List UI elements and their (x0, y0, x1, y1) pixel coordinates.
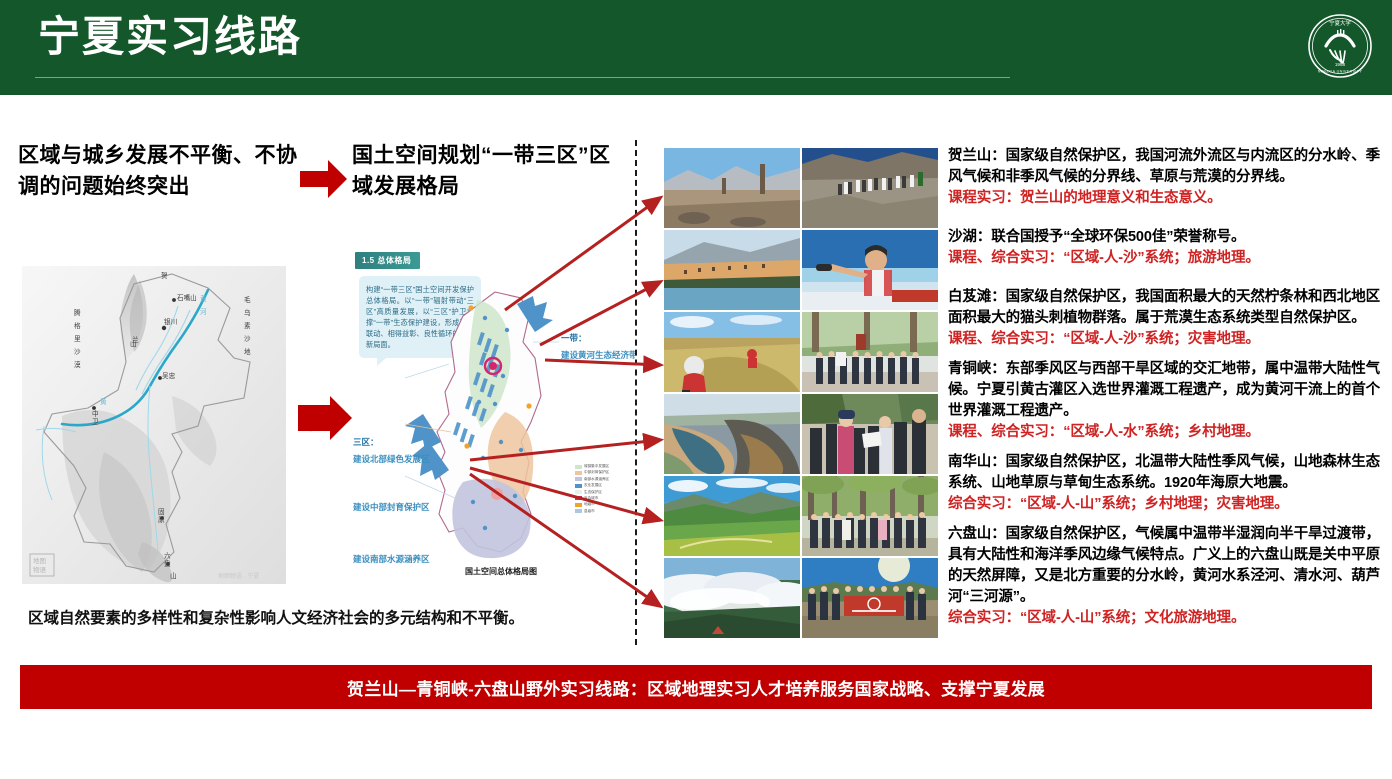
svg-text:地: 地 (244, 347, 251, 356)
site-block-shahu: 沙湖：联合国授予“全球环保500佳”荣誉称号。 课程、综合实习：“区域-人-沙”… (948, 227, 1386, 269)
header-divider (35, 77, 1010, 78)
site-course: 课程实习：贺兰山的地理意义和生态意义。 (948, 188, 1386, 209)
svg-text:吴忠: 吴忠 (162, 372, 176, 380)
liupanshan-banner-group-photo (802, 558, 938, 638)
page-header: 宁夏实习线路 宁夏大学 1958 NINGXIA UNIVERSITY (0, 0, 1392, 95)
bottom-banner: 贺兰山—青铜峡-六盘山野外实习线路：区域地理实习人才培养服务国家战略、支撑宁夏发… (20, 665, 1372, 709)
svg-text:物语: 物语 (33, 565, 47, 574)
site-body: 贺兰山：国家级自然保护区，我国河流外流区与内流区的分水岭、季风气候和非季风气候的… (948, 146, 1386, 188)
liupanshan-clouds-photo (664, 558, 800, 638)
photo-row (664, 476, 938, 556)
svg-text:六: 六 (164, 551, 171, 560)
photo-row (664, 394, 938, 474)
legend-item: 南部水源涵养区 (584, 477, 609, 482)
helanshan-landscape-photo (664, 148, 800, 228)
svg-text:1958: 1958 (1335, 62, 1346, 67)
svg-text:河: 河 (200, 308, 207, 316)
zones-label: 三区： (353, 436, 379, 448)
site-course: 综合实习：“区域-人-山”系统；乡村地理；灾害地理。 (948, 494, 1386, 515)
legend-item: 城镇集中发展区 (584, 464, 609, 469)
svg-text:银川: 银川 (164, 317, 177, 326)
photo-row (664, 230, 938, 310)
site-body: 沙湖：联合国授予“全球环保500佳”荣誉称号。 (948, 227, 1386, 248)
site-course: 课程、综合实习：“区域-人-沙”系统；灾害地理。 (948, 329, 1386, 350)
svg-text:地图物语 · 宁夏: 地图物语 · 宁夏 (218, 572, 259, 580)
svg-text:NINGXIA UNIVERSITY: NINGXIA UNIVERSITY (1318, 70, 1363, 74)
svg-text:贺: 贺 (161, 271, 168, 280)
legend-item: 地级市 (584, 502, 595, 507)
qingtongxia-teaching-photo (802, 394, 938, 474)
svg-text:卫: 卫 (92, 418, 99, 426)
terrain-map-caption: 区域自然要素的多样性和复杂性影响人文经济社会的多元结构和不平衡。 (28, 608, 608, 630)
site-body: 青铜峡：东部季风区与西部干旱区域的交汇地带，属中温带大陆性气候。宁夏引黄古灌区入… (948, 359, 1386, 422)
svg-text:固: 固 (158, 508, 165, 516)
problem-statement-text: 区域与城乡发展不平衡、不协调的问题始终突出 (18, 140, 308, 202)
red-arrow-icon (300, 158, 348, 200)
shahu-boat-photo (802, 230, 938, 310)
site-description-list: 贺兰山：国家级自然保护区，我国河流外流区与内流区的分水岭、季风气候和非季风气候的… (948, 146, 1386, 638)
planning-framework-text: 国土空间规划“一带三区”区域发展格局 (352, 140, 612, 202)
svg-text:素: 素 (244, 321, 251, 330)
ningxia-terrain-map: 贺兰山 石嘴山 银川 吴忠 腾格里沙漠 毛乌素沙地 黄河 黄中卫 固原 六盘山 … (22, 266, 286, 584)
site-body: 南华山：国家级自然保护区，北温带大陆性季风气候，山地森林生态系统、山地草原与草甸… (948, 452, 1386, 494)
site-course: 综合实习：“区域-人-山”系统；文化旅游地理。 (948, 608, 1386, 629)
territorial-plan-map: 1.5 总体格局 构建“一带三区”国土空间开发保护总体格局。以“一带”辐射带动“… (345, 246, 635, 586)
svg-text:地图: 地图 (33, 556, 46, 565)
svg-text:山: 山 (170, 571, 177, 580)
site-block-helanshan: 贺兰山：国家级自然保护区，我国河流外流区与内流区的分水岭、季风气候和非季风气候的… (948, 146, 1386, 209)
site-course: 课程、综合实习：“区域-人-水”系统；乡村地理。 (948, 422, 1386, 443)
plan-map-caption: 国土空间总体格局图 (465, 566, 537, 577)
baijitan-group-photo (802, 312, 938, 392)
svg-text:黄: 黄 (100, 397, 107, 406)
svg-text:盘: 盘 (164, 559, 171, 568)
baijitan-vegetation-photo (664, 312, 800, 392)
legend-item: 县级市 (584, 509, 595, 514)
svg-text:里: 里 (74, 335, 81, 343)
page-title: 宁夏实习线路 (38, 11, 302, 63)
photo-row (664, 312, 938, 392)
site-block-liupanshan: 六盘山：国家级自然保护区，气候属中温带半湿润向半干旱过渡带，具有大陆性和海洋季风… (948, 524, 1386, 629)
qingtongxia-river-photo (664, 394, 800, 474)
svg-text:宁夏大学: 宁夏大学 (1329, 19, 1351, 27)
svg-text:漠: 漠 (74, 360, 81, 369)
svg-text:石嘴山: 石嘴山 (177, 293, 197, 302)
fieldwork-photo-grid (664, 148, 938, 640)
legend-item: 省会城市 (584, 496, 598, 501)
site-block-nanhuashan: 南华山：国家级自然保护区，北温带大陆性季风气候，山地森林生态系统、山地草原与草甸… (948, 452, 1386, 515)
svg-text:乌: 乌 (244, 308, 251, 317)
helanshan-fieldwork-photo (802, 148, 938, 228)
zone-central-label: 建设中部封育保护区 (353, 501, 430, 513)
belt-text: 建设黄河生态经济带 (561, 349, 635, 361)
svg-text:腾: 腾 (74, 308, 81, 317)
svg-text:毛: 毛 (244, 295, 251, 304)
site-body: 六盘山：国家级自然保护区，气候属中温带半湿润向半干旱过渡带，具有大陆性和海洋季风… (948, 524, 1386, 608)
banner-text: 贺兰山—青铜峡-六盘山野外实习线路：区域地理实习人才培养服务国家战略、支撑宁夏发… (347, 675, 1045, 700)
svg-text:黄: 黄 (200, 294, 207, 303)
zone-south-label: 建设南部水源涵养区 (353, 553, 430, 565)
site-course: 课程、综合实习：“区域-人-沙”系统；旅游地理。 (948, 248, 1386, 269)
shahu-dune-lake-photo (664, 230, 800, 310)
legend-item: 中部封育保护区 (584, 470, 609, 475)
site-body: 白芨滩：国家级自然保护区，我国面积最大的天然柠条林和西北地区面积最大的猫头刺植物… (948, 287, 1386, 329)
svg-text:沙: 沙 (244, 335, 251, 343)
nanhuashan-forest-group-photo (802, 476, 938, 556)
svg-text:山: 山 (130, 339, 137, 348)
svg-text:格: 格 (74, 321, 81, 330)
svg-text:沙: 沙 (74, 348, 81, 356)
belt-label: 一带： (561, 332, 587, 344)
site-block-baijitan: 白芨滩：国家级自然保护区，我国面积最大的天然柠条林和西北地区面积最大的猫头刺植物… (948, 287, 1386, 350)
site-block-qingtongxia: 青铜峡：东部季风区与西部干旱区域的交汇地带，属中温带大陆性气候。宁夏引黄古灌区入… (948, 359, 1386, 443)
plan-map-legend: 城镇集中发展区 中部封育保护区 南部水源涵养区 农业发展区 生态保护区 省会城市… (575, 464, 623, 515)
photo-row (664, 148, 938, 228)
ningxia-university-logo: 宁夏大学 1958 NINGXIA UNIVERSITY (1304, 10, 1376, 82)
svg-text:原: 原 (158, 516, 165, 524)
vertical-dashed-divider (635, 140, 637, 645)
nanhuashan-grassland-photo (664, 476, 800, 556)
photo-row (664, 558, 938, 638)
legend-item: 生态保护区 (584, 490, 602, 495)
legend-item: 农业发展区 (584, 483, 602, 488)
zone-north-label: 建设北部绿色发展区 (353, 453, 430, 465)
svg-text:中: 中 (92, 409, 99, 418)
